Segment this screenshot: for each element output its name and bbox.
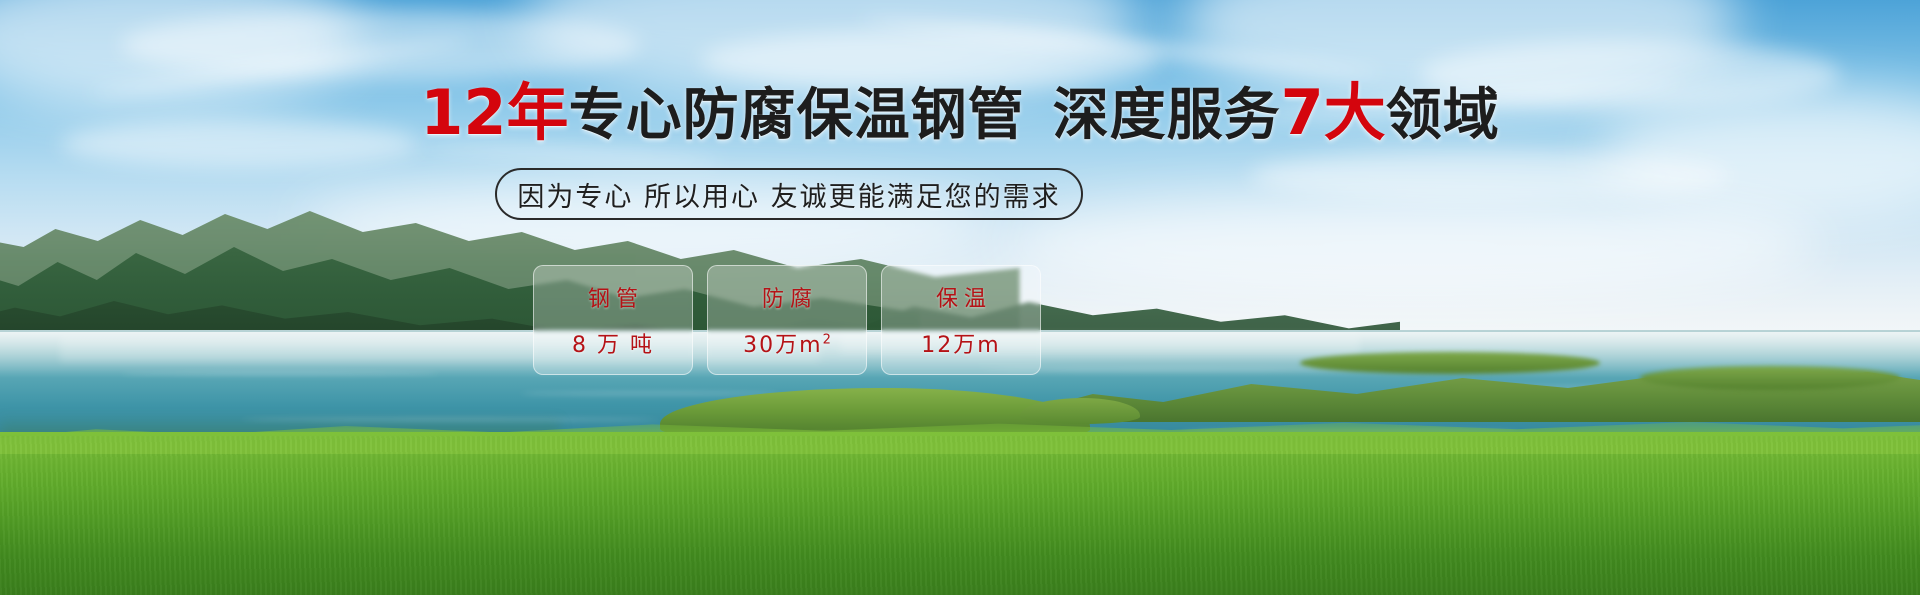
stat-value: 30万m2 [743,327,831,359]
stat-card-steel-pipe: 钢管 8 万 吨 [533,265,693,375]
stat-label: 保温 [930,281,992,313]
stat-value: 12万m [921,327,1000,359]
stat-card-insulation: 保温 12万m [881,265,1041,375]
water-ripple [520,392,780,395]
stat-box-group: 钢管 8 万 吨 防腐 30万m2 保温 12万m [533,265,1041,375]
headline-years: 12年 [420,76,568,149]
stat-card-anticorrosion: 防腐 30万m2 [707,265,867,375]
stat-value-exponent: 2 [823,333,831,348]
stat-label: 钢管 [582,281,644,313]
cloud-shape [1000,190,1820,300]
subtitle-text: 因为专心 所以用心 友诚更能满足您的需求 [517,175,1060,214]
hero-banner: 12年专心防腐保温钢管深度服务7大领域 因为专心 所以用心 友诚更能满足您的需求… [0,0,1920,595]
stat-value-main: 8 万 吨 [572,333,654,358]
headline-service: 深度服务 [1053,83,1281,148]
marsh-patch [1300,352,1600,374]
headline-main: 专心防腐保温钢管 [569,83,1025,148]
grass-texture [0,436,1920,595]
subtitle-pill: 因为专心 所以用心 友诚更能满足您的需求 [495,168,1083,220]
stat-value: 8 万 吨 [572,327,654,359]
stat-value-main: 30万m [743,333,822,358]
stat-value-main: 12万m [921,333,1000,358]
page-title: 12年专心防腐保温钢管深度服务7大领域 [0,82,1920,147]
headline-count: 7大 [1281,76,1386,149]
marsh-patch [1640,366,1900,390]
headline-fields: 领域 [1386,83,1500,148]
stat-label: 防腐 [756,281,818,313]
water-ripple [120,372,440,375]
